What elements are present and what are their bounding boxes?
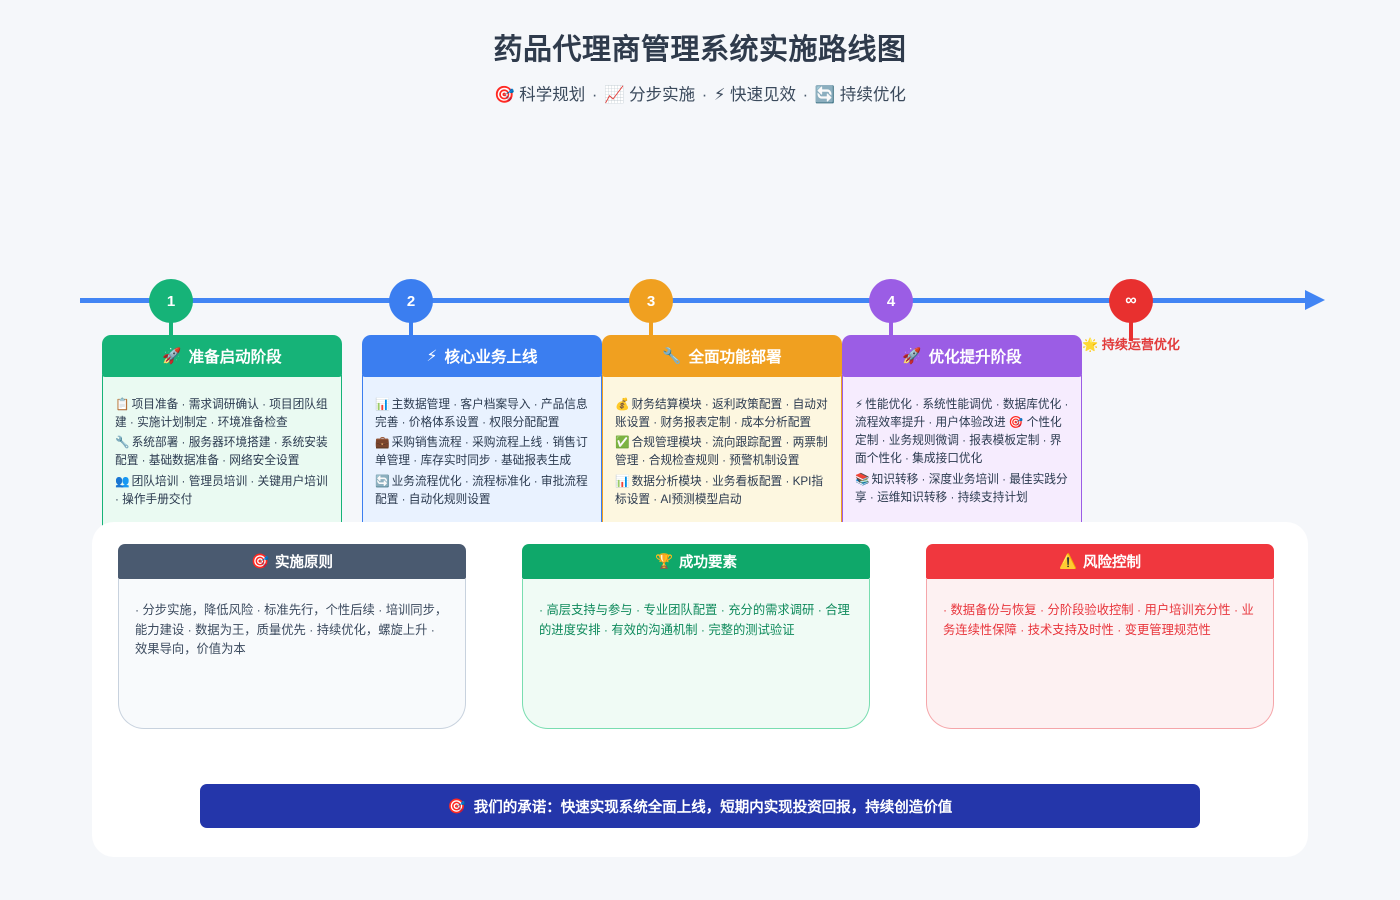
phase-item-text: 团队培训 · 管理员培训 · 关键用户培训 · 操作手册交付 <box>115 475 328 506</box>
target-icon: 🎯 <box>494 85 515 104</box>
info-card-header-2: 🏆成功要素 <box>522 544 870 579</box>
info-card-row: 🎯实施原则· 分步实施，降低风险 · 标准先行，个性后续 · 培训同步，能力建设… <box>92 522 1308 729</box>
phase-header-1: 🚀准备启动阶段 <box>102 335 342 377</box>
subtitle-label-0: 科学规划 <box>519 86 585 104</box>
warning-icon: ⚠️ <box>1059 553 1077 570</box>
subtitle-separator-2: · <box>801 86 811 104</box>
phase-title-1: 准备启动阶段 <box>189 345 282 367</box>
page-title: 药品代理商管理系统实施路线图 <box>0 26 1400 68</box>
phase-item: ✅合规管理模块 · 流向跟踪配置 · 两票制管理 · 合规检查规则 · 预警机制… <box>615 433 829 470</box>
phase-item: 📊主数据管理 · 客户档案导入 · 产品信息完善 · 价格体系设置 · 权限分配… <box>375 395 589 432</box>
money-bag-icon: 💰 <box>615 397 630 411</box>
info-card-title-3: 风险控制 <box>1083 551 1141 572</box>
phase-item-text: 数据分析模块 · 业务看板配置 · KPI指标设置 · AI预测模型启动 <box>615 475 823 506</box>
phase-header-2: ⚡核心业务上线 <box>362 335 602 377</box>
wrench-icon: 🔧 <box>115 435 130 449</box>
subtitle-label-3: 持续优化 <box>840 86 906 104</box>
info-card-1[interactable]: 🎯实施原则· 分步实施，降低风险 · 标准先行，个性后续 · 培训同步，能力建设… <box>118 544 466 729</box>
phase-item-text: 合规管理模块 · 流向跟踪配置 · 两票制管理 · 合规检查规则 · 预警机制设… <box>615 436 828 467</box>
subtitle-separator-1: · <box>700 86 710 104</box>
info-card-3[interactable]: ⚠️风险控制· 数据备份与恢复 · 分阶段验收控制 · 用户培训充分性 · 业务… <box>926 544 1274 729</box>
phase-item-text: 财务结算模块 · 返利政策配置 · 自动对账设置 · 财务报表定制 · 成本分析… <box>615 398 828 429</box>
phase-item: 💰财务结算模块 · 返利政策配置 · 自动对账设置 · 财务报表定制 · 成本分… <box>615 395 829 432</box>
info-card-body-2: · 高层支持与参与 · 专业团队配置 · 充分的需求调研 · 合理的进度安排 ·… <box>522 579 870 729</box>
target-icon: 🎯 <box>251 553 269 570</box>
summary-panel: 🎯实施原则· 分步实施，降低风险 · 标准先行，个性后续 · 培训同步，能力建设… <box>92 522 1308 857</box>
refresh-cycle-icon: 🔄 <box>375 474 390 488</box>
bar-chart-icon: 📊 <box>375 397 390 411</box>
bar-chart-icon: 📊 <box>615 474 630 488</box>
subtitle-separator-0: · <box>590 86 600 104</box>
phase-item: 🔄业务流程优化 · 流程标准化 · 审批流程配置 · 自动化规则设置 <box>375 472 589 509</box>
phase-header-3: 🔧全面功能部署 <box>602 335 842 377</box>
phase-item: ⚡性能优化 · 系统性能调优 · 数据库优化 · 流程效率提升 · 用户体验改进… <box>855 395 1069 469</box>
timeline-section: 1234∞🚀准备启动阶段📋项目准备 · 需求调研确认 · 项目团队组建 · 实施… <box>0 133 1400 443</box>
subtitle-label-2: 快速见效 <box>730 86 796 104</box>
people-icon: 👥 <box>115 474 130 488</box>
info-card-header-3: ⚠️风险控制 <box>926 544 1274 579</box>
wrench-icon: 🔧 <box>662 347 681 365</box>
chart-up-icon: 📈 <box>604 85 625 104</box>
info-card-title-1: 实施原则 <box>275 551 333 572</box>
rocket-icon: 🚀 <box>902 347 921 365</box>
clipboard-icon: 📋 <box>115 397 130 411</box>
refresh-cycle-icon: 🔄 <box>815 85 836 104</box>
phase-title-4: 优化提升阶段 <box>929 345 1022 367</box>
timeline-milestone-3[interactable]: 3 <box>629 279 673 323</box>
lightning-icon: ⚡ <box>855 397 863 411</box>
target-icon: 🎯 <box>448 798 466 815</box>
check-box-icon: ✅ <box>615 435 630 449</box>
phase-item: 🔧系统部署 · 服务器环境搭建 · 系统安装配置 · 基础数据准备 · 网络安全… <box>115 433 329 470</box>
briefcase-icon: 💼 <box>375 435 390 449</box>
info-card-2[interactable]: 🏆成功要素· 高层支持与参与 · 专业团队配置 · 充分的需求调研 · 合理的进… <box>522 544 870 729</box>
phase-item: 📚知识转移 · 深度业务培训 · 最佳实践分享 · 运维知识转移 · 持续支持计… <box>855 470 1069 507</box>
phase-item-text: 性能优化 · 系统性能调优 · 数据库优化 · 流程效率提升 · 用户体验改进 … <box>855 398 1068 465</box>
info-card-header-1: 🎯实施原则 <box>118 544 466 579</box>
page-header: 药品代理商管理系统实施路线图 🎯 科学规划 · 📈 分步实施 · ⚡ 快速见效 … <box>0 0 1400 105</box>
timeline-milestone-4[interactable]: 4 <box>869 279 913 323</box>
timeline-arrow-head <box>1305 290 1325 310</box>
phase-item: 📋项目准备 · 需求调研确认 · 项目团队组建 · 实施计划制定 · 环境准备检… <box>115 395 329 432</box>
commitment-text: 我们的承诺：快速实现系统全面上线，短期内实现投资回报，持续创造价值 <box>474 796 953 817</box>
phase-title-2: 核心业务上线 <box>444 345 537 367</box>
star-icon: 🌟 <box>1082 338 1098 353</box>
phase-item: 💼采购销售流程 · 采购流程上线 · 销售订单管理 · 库存实时同步 · 基础报… <box>375 433 589 470</box>
commitment-banner: 🎯 我们的承诺：快速实现系统全面上线，短期内实现投资回报，持续创造价值 <box>200 784 1200 828</box>
books-icon: 📚 <box>855 472 870 486</box>
phase-item-text: 知识转移 · 深度业务培训 · 最佳实践分享 · 运维知识转移 · 持续支持计划 <box>855 473 1068 504</box>
timeline-milestone-1[interactable]: 1 <box>149 279 193 323</box>
phase-item-text: 采购销售流程 · 采购流程上线 · 销售订单管理 · 库存实时同步 · 基础报表… <box>375 436 588 467</box>
phase-item-text: 项目准备 · 需求调研确认 · 项目团队组建 · 实施计划制定 · 环境准备检查 <box>115 398 328 429</box>
rocket-icon: 🚀 <box>162 347 181 365</box>
phase-item: 📊数据分析模块 · 业务看板配置 · KPI指标设置 · AI预测模型启动 <box>615 472 829 509</box>
info-card-body-1: · 分步实施，降低风险 · 标准先行，个性后续 · 培训同步，能力建设 · 数据… <box>118 579 466 729</box>
timeline-milestone-5[interactable]: ∞ <box>1109 279 1153 323</box>
info-card-body-3: · 数据备份与恢复 · 分阶段验收控制 · 用户培训充分性 · 业务连续性保障 … <box>926 579 1274 729</box>
phase-item-text: 系统部署 · 服务器环境搭建 · 系统安装配置 · 基础数据准备 · 网络安全设… <box>115 436 328 467</box>
timeline-milestone-2[interactable]: 2 <box>389 279 433 323</box>
phase-item: 👥团队培训 · 管理员培训 · 关键用户培训 · 操作手册交付 <box>115 472 329 509</box>
lightning-icon: ⚡ <box>714 85 726 104</box>
info-card-title-2: 成功要素 <box>679 551 737 572</box>
persistent-label-text: 持续运营优化 <box>1102 337 1180 352</box>
page-subtitle: 🎯 科学规划 · 📈 分步实施 · ⚡ 快速见效 · 🔄 持续优化 <box>0 81 1400 105</box>
phase-item-text: 业务流程优化 · 流程标准化 · 审批流程配置 · 自动化规则设置 <box>375 475 588 506</box>
phase-header-4: 🚀优化提升阶段 <box>842 335 1082 377</box>
phase-title-3: 全面功能部署 <box>689 345 782 367</box>
phase-item-text: 主数据管理 · 客户档案导入 · 产品信息完善 · 价格体系设置 · 权限分配配… <box>375 398 588 429</box>
subtitle-label-1: 分步实施 <box>629 86 695 104</box>
lightning-icon: ⚡ <box>427 347 438 365</box>
trophy-icon: 🏆 <box>655 553 673 570</box>
